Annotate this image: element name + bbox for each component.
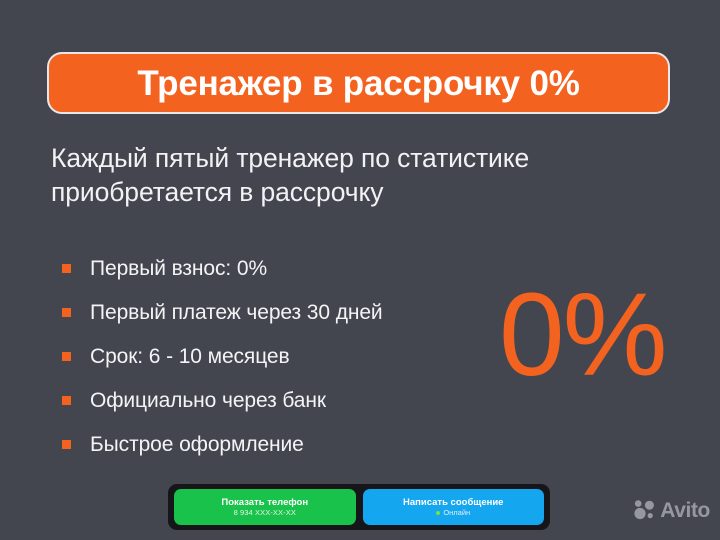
subtitle-text: Каждый пятый тренажер по статистике прио… [51, 141, 681, 209]
list-item-label: Первый платеж через 30 дней [90, 302, 383, 323]
square-bullet-icon [62, 264, 71, 273]
list-item-label: Быстрое оформление [90, 434, 304, 455]
benefits-list: Первый взнос: 0% Первый платеж через 30 … [62, 246, 492, 466]
headline-banner: Тренажер в рассрочку 0% [47, 52, 670, 114]
avito-dots-icon [634, 500, 656, 521]
list-item-label: Первый взнос: 0% [90, 258, 267, 279]
list-item: Быстрое оформление [62, 422, 492, 466]
list-item-label: Срок: 6 - 10 месяцев [90, 346, 290, 367]
show-phone-label: Показать телефон [221, 498, 308, 508]
square-bullet-icon [62, 352, 71, 361]
list-item-label: Официально через банк [90, 390, 326, 411]
contact-widget: Показать телефон 8 934 XXX-XX-XX Написат… [168, 484, 550, 530]
square-bullet-icon [62, 308, 71, 317]
show-phone-button[interactable]: Показать телефон 8 934 XXX-XX-XX [174, 489, 356, 525]
headline-text: Тренажер в рассрочку 0% [137, 66, 579, 101]
online-status: Онлайн [436, 509, 470, 517]
slide-canvas: Тренажер в рассрочку 0% Каждый пятый тре… [0, 0, 720, 540]
percent-badge: 0% [499, 276, 666, 394]
phone-number-text: 8 934 XXX-XX-XX [234, 509, 296, 517]
list-item: Первый платеж через 30 дней [62, 290, 492, 334]
square-bullet-icon [62, 440, 71, 449]
square-bullet-icon [62, 396, 71, 405]
avito-watermark: Avito [634, 500, 710, 521]
online-status-label: Онлайн [443, 509, 470, 517]
list-item: Срок: 6 - 10 месяцев [62, 334, 492, 378]
list-item: Первый взнос: 0% [62, 246, 492, 290]
send-message-label: Написать сообщение [403, 498, 503, 508]
send-message-button[interactable]: Написать сообщение Онлайн [363, 489, 545, 525]
status-dot-icon [436, 511, 440, 515]
avito-wordmark: Avito [660, 500, 710, 521]
list-item: Официально через банк [62, 378, 492, 422]
